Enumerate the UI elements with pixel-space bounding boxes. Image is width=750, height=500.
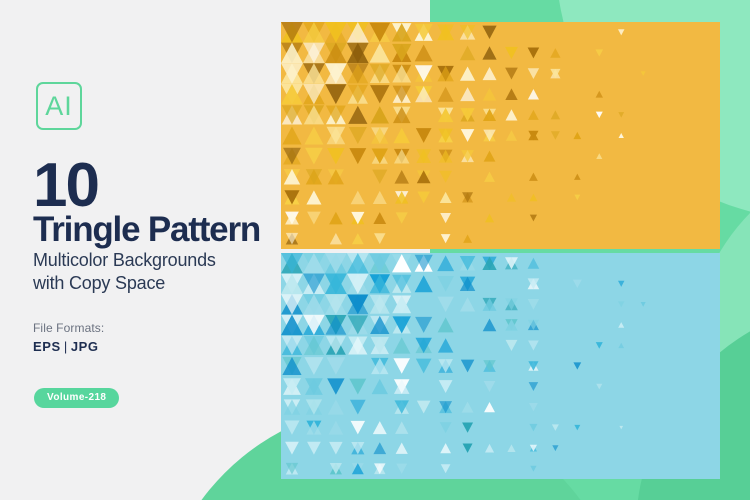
preview-blue-triangle-pattern: [281, 253, 720, 479]
orange-pattern-art: [281, 22, 720, 249]
format-jpg: JPG: [71, 339, 99, 354]
preview-orange-triangle-pattern: [281, 22, 720, 249]
info-column: AI 10 Tringle Pattern Multicolor Backgro…: [0, 0, 282, 500]
format-eps: EPS: [33, 339, 61, 354]
format-separator: |: [61, 339, 71, 354]
volume-badge: Volume-218: [34, 388, 119, 408]
adobe-illustrator-badge: AI: [36, 82, 82, 130]
file-formats-label: File Formats:: [33, 321, 104, 335]
item-count: 10: [33, 155, 98, 217]
subtitle-line-1: Multicolor Backgrounds: [33, 249, 216, 272]
subtitle-line-2: with Copy Space: [33, 272, 216, 295]
ai-badge-label: AI: [45, 93, 73, 120]
poster-canvas: AI 10 Tringle Pattern Multicolor Backgro…: [0, 0, 750, 500]
page-title: Tringle Pattern: [33, 212, 260, 247]
blue-pattern-art: [281, 253, 720, 479]
page-subtitle: Multicolor Backgrounds with Copy Space: [33, 249, 216, 295]
file-formats-value: EPS|JPG: [33, 339, 99, 354]
